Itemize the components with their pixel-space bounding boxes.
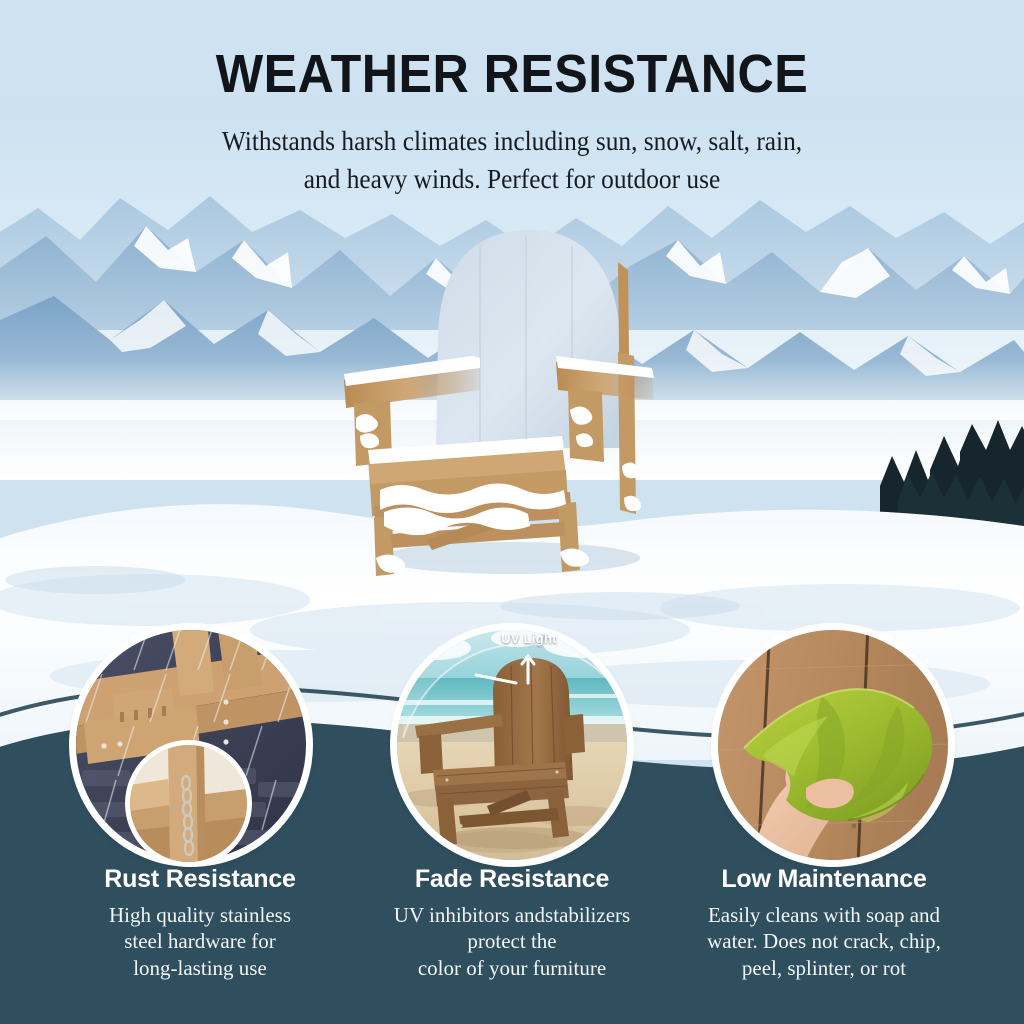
hero-chair-snow-covered [330,222,670,582]
feature-body-line-1: UV inhibitors andstabilizers [347,902,677,929]
feature-body-line-2: protect the [347,928,677,955]
feature-body-line-3: long-lasting use [35,955,365,982]
infographic-canvas: UV Light [0,0,1024,1024]
page-title: WEATHER RESISTANCE [36,46,988,103]
feature-caption-low-maintenance: Low Maintenance Easily cleans with soap … [659,866,989,982]
uv-light-arrow-icon [460,645,580,695]
feature-body-line-1: High quality stainless [35,902,365,929]
feature-image-low-maintenance [718,630,948,860]
feature-heading: Fade Resistance [347,866,677,894]
feature-heading: Low Maintenance [659,866,989,894]
feature-body-line-3: color of your furniture [347,955,677,982]
feature-body-line-2: steel hardware for [35,928,365,955]
feature-caption-fade-resistance: Fade Resistance UV inhibitors andstabili… [347,866,677,982]
feature-body-line-3: peel, splinter, or rot [659,955,989,982]
feature-body-line-1: Easily cleans with soap and [659,902,989,929]
page-subtitle: Withstands harsh climates including sun,… [31,122,994,199]
feature-caption-rust-resistance: Rust Resistance High quality stainless s… [35,866,365,982]
feature-body-line-2: water. Does not crack, chip, [659,928,989,955]
subtitle-line-2: and heavy winds. Perfect for outdoor use [31,160,994,198]
subtitle-line-1: Withstands harsh climates including sun,… [31,122,994,160]
feature-inset-stainless-chain [130,745,247,862]
feature-heading: Rust Resistance [35,866,365,894]
uv-light-label: UV Light [474,631,584,646]
